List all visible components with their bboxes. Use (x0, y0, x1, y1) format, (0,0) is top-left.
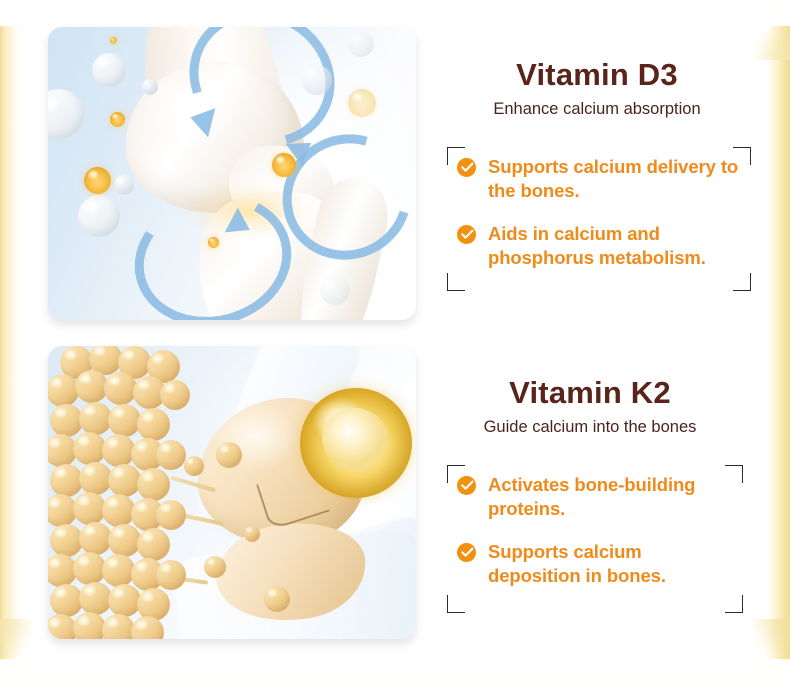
check-circle-icon (457, 158, 476, 177)
white-sphere (48, 89, 84, 139)
vitamin-d3-image-card (48, 27, 416, 320)
gold-droplet (84, 167, 111, 194)
golden-capsule-icon (300, 388, 412, 498)
bone-joint-illustration (48, 27, 416, 320)
vitamin-d3-text-block: Vitamin D3 Enhance calcium absorption (432, 58, 762, 120)
calcium-lattice-illustration (48, 346, 416, 639)
white-sphere (114, 175, 134, 195)
bullet-text: Supports calcium delivery to the bones. (488, 155, 747, 204)
list-item: Supports calcium deposition in bones. (457, 540, 739, 589)
white-sphere (142, 79, 158, 95)
white-sphere (92, 53, 126, 87)
check-circle-icon (457, 225, 476, 244)
bullet-text: Activates bone-building proteins. (488, 473, 739, 522)
vitamin-k2-subtitle: Guide calcium into the bones (425, 418, 755, 438)
content-area: Vitamin D3 Enhance calcium absorption Su… (0, 0, 790, 689)
bullet-text: Aids in calcium and phosphorus metabolis… (488, 222, 747, 271)
list-item: Aids in calcium and phosphorus metabolis… (457, 222, 747, 271)
floating-calcium-sphere (264, 586, 290, 612)
vitamin-d3-subtitle: Enhance calcium absorption (432, 100, 762, 120)
floating-calcium-sphere (244, 526, 260, 542)
vitamin-k2-title: Vitamin K2 (425, 376, 755, 411)
vitamin-k2-bullet-list: Activates bone-building proteins. Suppor… (457, 473, 739, 589)
capsule-core-highlight (322, 408, 388, 470)
gold-droplet (348, 89, 376, 117)
gold-droplet (208, 237, 219, 248)
gold-droplet (110, 37, 117, 44)
check-circle-icon (457, 476, 476, 495)
white-sphere (320, 275, 350, 305)
bullet-text: Supports calcium deposition in bones. (488, 540, 739, 589)
bracket-corner-bottom-right (725, 595, 743, 613)
gold-droplet (272, 153, 296, 177)
floating-calcium-sphere (216, 442, 242, 468)
floating-calcium-sphere (184, 456, 204, 476)
bracket-corner-bottom-right (733, 273, 751, 291)
vitamin-k2-image-card (48, 346, 416, 639)
bracket-corner-bottom-left (447, 273, 465, 291)
bracket-corner-bottom-left (447, 595, 465, 613)
infographic-page: Vitamin D3 Enhance calcium absorption Su… (0, 0, 790, 689)
vitamin-k2-bullet-frame: Activates bone-building proteins. Suppor… (447, 465, 743, 613)
list-item: Supports calcium delivery to the bones. (457, 155, 747, 204)
vitamin-d3-bullet-frame: Supports calcium delivery to the bones. … (447, 147, 751, 291)
vitamin-d3-title: Vitamin D3 (432, 58, 762, 93)
white-sphere (302, 65, 332, 95)
gold-droplet (110, 112, 125, 127)
list-item: Activates bone-building proteins. (457, 473, 739, 522)
floating-calcium-sphere (204, 556, 226, 578)
white-sphere (348, 31, 374, 57)
calcium-sphere-lattice (48, 346, 204, 639)
vitamin-d3-bullet-list: Supports calcium delivery to the bones. … (457, 155, 747, 271)
vitamin-k2-text-block: Vitamin K2 Guide calcium into the bones (425, 376, 755, 438)
white-sphere (78, 195, 120, 237)
check-circle-icon (457, 543, 476, 562)
